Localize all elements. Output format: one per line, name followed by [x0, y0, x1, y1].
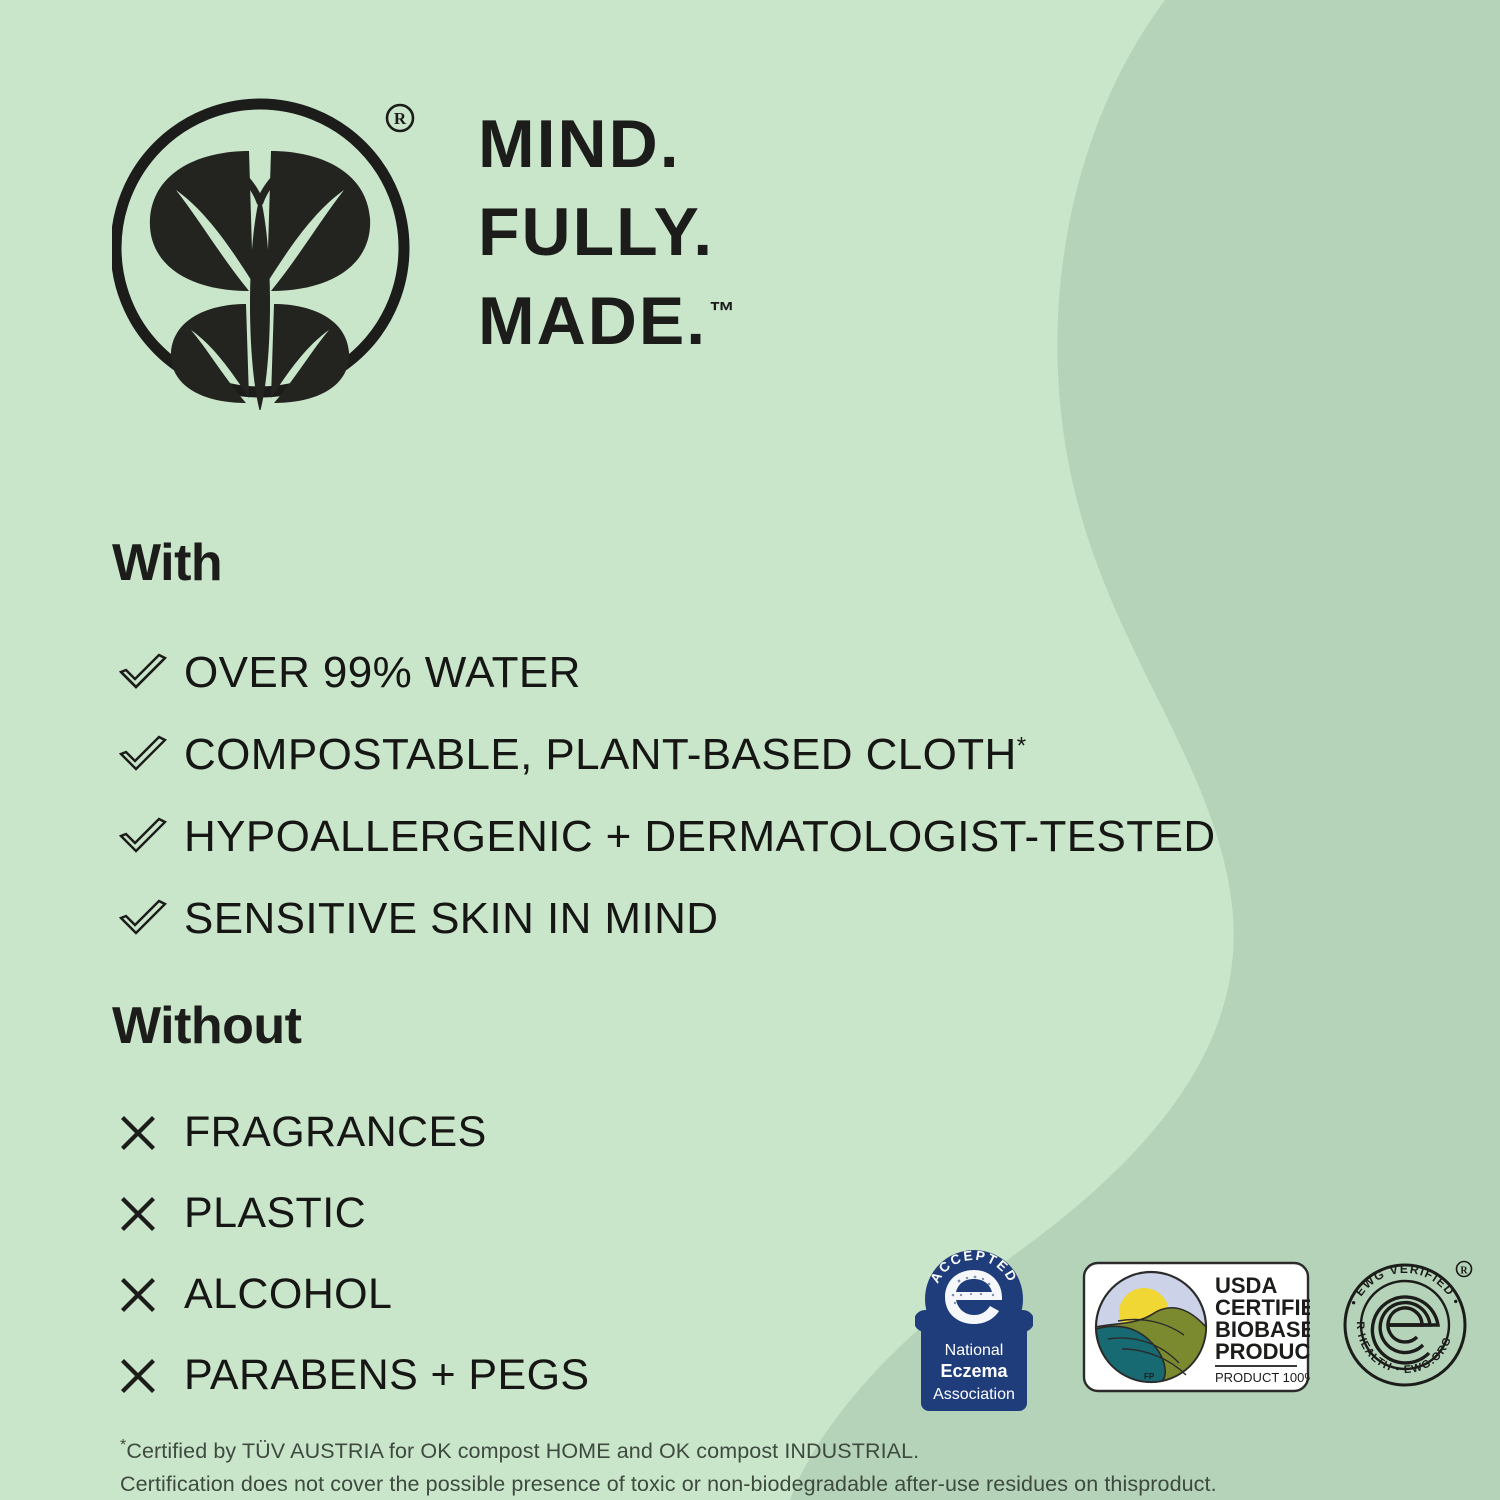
- wordmark-line-2: FULLY.: [478, 188, 735, 276]
- wordmark-line-3: MADE.™: [478, 277, 735, 365]
- svg-text:R: R: [394, 109, 407, 128]
- cross-icon: [118, 1113, 184, 1153]
- usda-corner-text: FP: [1144, 1372, 1155, 1381]
- with-list: OVER 99% WATER COMPOSTABLE, PLANT-BASED …: [118, 632, 1216, 960]
- without-heading: Without: [112, 996, 302, 1056]
- with-heading: With: [112, 533, 222, 593]
- list-item-text: OVER 99% WATER: [184, 648, 581, 697]
- nea-line-1: National: [945, 1342, 1004, 1359]
- cross-icon: [118, 1194, 184, 1234]
- nea-line-2: Eczema: [940, 1361, 1008, 1381]
- trademark-mark: ™: [709, 296, 735, 326]
- svg-text:• EWG VERIFIED •: • EWG VERIFIED •: [1346, 1262, 1463, 1308]
- usda-farm-icon: FP: [1096, 1272, 1206, 1382]
- list-item-text: COMPOSTABLE, PLANT-BASED CLOTH: [184, 730, 1017, 779]
- usda-certified-biobased-product-badge: FP USDA CERTIFIED BIOBASED PRODUCT PRODU…: [1082, 1257, 1310, 1397]
- list-item-text: SENSITIVE SKIN IN MIND: [184, 894, 718, 943]
- list-item-label: PLASTIC: [184, 1189, 366, 1238]
- list-item: OVER 99% WATER: [118, 632, 1216, 714]
- list-item-label: OVER 99% WATER: [184, 648, 581, 698]
- footnote-line-1-text: Certified by TÜV AUSTRIA for OK compost …: [126, 1439, 919, 1463]
- list-item: PARABENS + PEGS: [118, 1335, 590, 1416]
- list-item: ALCOHOL: [118, 1254, 590, 1335]
- check-icon: [118, 899, 184, 939]
- list-item-label: SENSITIVE SKIN IN MIND: [184, 894, 718, 944]
- list-item: PLASTIC: [118, 1173, 590, 1254]
- list-item-sup: *: [1017, 732, 1027, 759]
- nea-line-3: Association: [933, 1386, 1015, 1403]
- ewg-e-icon: [1372, 1297, 1438, 1363]
- usda-line-4: PRODUCT: [1215, 1339, 1310, 1364]
- list-item-text: HYPOALLERGENIC + DERMATOLOGIST-TESTED: [184, 812, 1216, 861]
- cross-icon: [118, 1275, 184, 1315]
- list-item-label: COMPOSTABLE, PLANT-BASED CLOTH*: [184, 730, 1026, 780]
- footnote-line-2: Certification does not cover the possibl…: [120, 1468, 1380, 1500]
- national-eczema-association-badge: ACCEPTED N: [915, 1243, 1033, 1415]
- list-item-label: PARABENS + PEGS: [184, 1351, 590, 1400]
- list-item: FRAGRANCES: [118, 1092, 590, 1173]
- cross-icon: [118, 1356, 184, 1396]
- ewg-arc-top: • EWG VERIFIED •: [1346, 1262, 1463, 1308]
- brand-logo-block: R MIND. FULLY. MADE.™: [112, 78, 735, 410]
- footnote-line-1: *Certified by TÜV AUSTRIA for OK compost…: [120, 1434, 1380, 1468]
- list-item-label: HYPOALLERGENIC + DERMATOLOGIST-TESTED: [184, 812, 1216, 862]
- butterfly-in-circle-logo: R: [112, 78, 418, 410]
- ewg-verified-badge: • EWG VERIFIED • FOR YOUR HEALTH • EWG.O…: [1335, 1255, 1475, 1395]
- wordmark-line-3-text: MADE.: [478, 283, 707, 359]
- list-item-label: FRAGRANCES: [184, 1108, 487, 1157]
- registered-mark-icon: R: [1457, 1262, 1472, 1277]
- promo-panel: R MIND. FULLY. MADE.™ W: [0, 0, 1500, 1500]
- list-item: HYPOALLERGENIC + DERMATOLOGIST-TESTED: [118, 796, 1216, 878]
- check-icon: [118, 735, 184, 775]
- wordmark-line-1: MIND.: [478, 100, 735, 188]
- list-item: SENSITIVE SKIN IN MIND: [118, 878, 1216, 960]
- usda-subtext: PRODUCT 100%: [1215, 1370, 1310, 1385]
- list-item: COMPOSTABLE, PLANT-BASED CLOTH*: [118, 714, 1216, 796]
- svg-text:R: R: [1460, 1266, 1468, 1277]
- footnote: *Certified by TÜV AUSTRIA for OK compost…: [120, 1434, 1380, 1500]
- registered-mark-icon: R: [387, 105, 413, 131]
- certification-badges: ACCEPTED N: [915, 1243, 1475, 1415]
- check-icon: [118, 817, 184, 857]
- nea-e-icon: [945, 1270, 1002, 1324]
- check-icon: [118, 653, 184, 693]
- without-list: FRAGRANCES PLASTIC ALCOHOL: [118, 1092, 590, 1416]
- list-item-label: ALCOHOL: [184, 1270, 392, 1319]
- wordmark: MIND. FULLY. MADE.™: [478, 100, 735, 365]
